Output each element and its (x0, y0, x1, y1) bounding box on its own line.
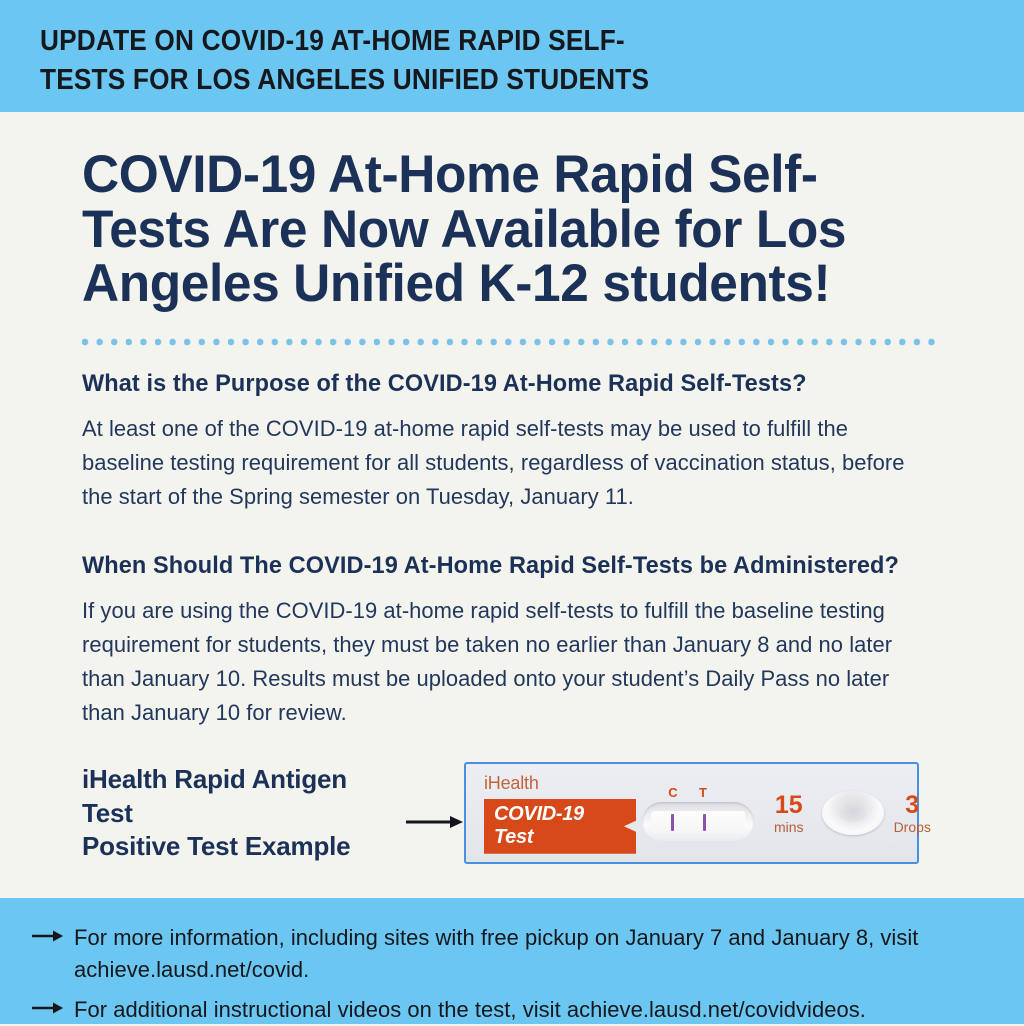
poster-root: UPDATE ON COVID-19 AT-HOME RAPID SELF-TE… (0, 0, 1024, 1024)
footer-item: For additional instructional videos on t… (32, 994, 984, 1026)
test-kit-image: iHealth COVID-19 Test C T (464, 762, 919, 864)
footer-band: For more information, including sites wi… (0, 898, 1024, 1024)
section-heading-when: When Should The COVID-19 At-Home Rapid S… (82, 550, 908, 581)
right-arrow-icon (32, 929, 64, 948)
kit-test-marker: T (688, 785, 718, 800)
right-arrow-icon (32, 1001, 64, 1020)
kit-time-value: 15 (774, 793, 804, 818)
kit-drops-indicator: 3 Drops (894, 793, 931, 834)
kit-drops-unit: Drops (894, 820, 931, 834)
section-body-purpose: At least one of the COVID-19 at-home rap… (82, 412, 921, 514)
example-label: iHealth Rapid Antigen Test Positive Test… (82, 763, 398, 863)
section-body-when: If you are using the COVID-19 at-home ra… (82, 594, 921, 730)
kit-time-unit: mins (774, 820, 804, 834)
kit-ct-markers: C T (642, 785, 718, 800)
main-content: COVID-19 At-Home Rapid Self-Tests Are No… (0, 112, 1024, 898)
kit-result-strip (651, 811, 745, 833)
example-label-wrap: iHealth Rapid Antigen Test Positive Test… (82, 763, 464, 863)
footer-text-info: For more information, including sites wi… (74, 922, 961, 986)
example-row: iHealth Rapid Antigen Test Positive Test… (82, 762, 942, 864)
kit-test-line (703, 814, 706, 831)
footer-text-videos: For additional instructional videos on t… (74, 994, 866, 1026)
footer-item: For more information, including sites wi… (32, 922, 984, 986)
kit-result-window-column: C T (642, 785, 766, 842)
example-label-line2: Positive Test Example (82, 831, 350, 861)
header-title: UPDATE ON COVID-19 AT-HOME RAPID SELF-TE… (40, 22, 684, 101)
kit-time-indicator: 15 mins (774, 793, 804, 834)
kit-control-marker: C (658, 785, 688, 800)
kit-control-line (671, 814, 674, 831)
kit-brand-column: iHealth COVID-19 Test (484, 773, 636, 854)
example-label-line1: iHealth Rapid Antigen Test (82, 764, 347, 827)
section-heading-purpose: What is the Purpose of the COVID-19 At-H… (82, 368, 908, 399)
dotted-divider (82, 338, 942, 346)
kit-drops-value: 3 (894, 793, 931, 818)
header-band: UPDATE ON COVID-19 AT-HOME RAPID SELF-TE… (0, 0, 1024, 112)
kit-banner-label: COVID-19 Test (484, 799, 636, 854)
right-arrow-icon (406, 814, 464, 835)
hero-title: COVID-19 At-Home Rapid Self-Tests Are No… (82, 112, 916, 312)
kit-brand-label: iHealth (484, 773, 636, 794)
kit-result-window (642, 802, 754, 842)
kit-dropper-well-icon (822, 791, 884, 835)
